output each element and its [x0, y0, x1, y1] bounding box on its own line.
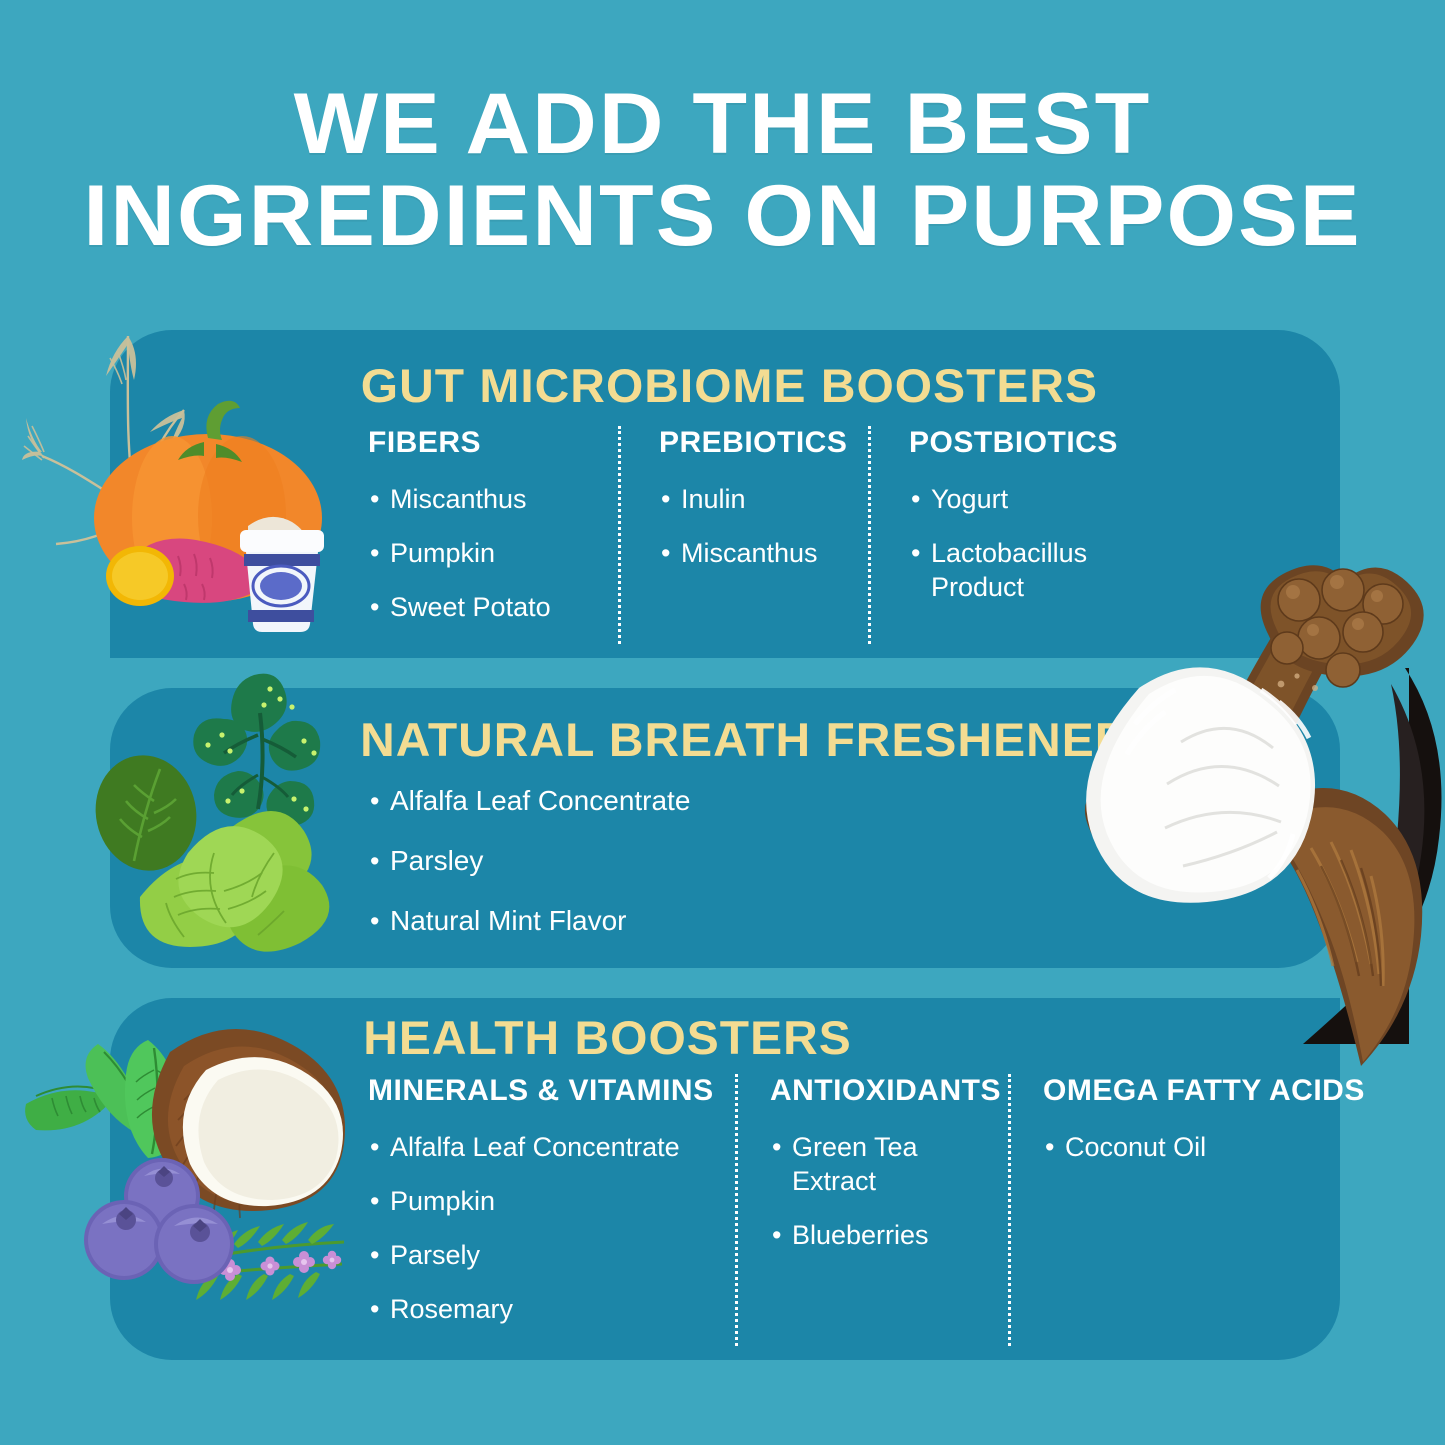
column-fibers: FIBERS Miscanthus Pumpkin Sweet Potato [368, 426, 618, 644]
column-head-fibers: FIBERS [368, 426, 618, 460]
column-head-omega-fatty-acids: OMEGA FATTY ACIDS [1043, 1074, 1328, 1108]
panel-breath-heading: NATURAL BREATH FRESHENERS [360, 712, 1163, 767]
column-head-postbiotics: POSTBIOTICS [909, 426, 1168, 460]
panel-health-heading: HEALTH BOOSTERS [363, 1010, 852, 1065]
list-item: Inulin [659, 482, 868, 516]
title-line-2: INGREDIENTS ON PURPOSE [0, 170, 1445, 262]
list-item: Coconut Oil [1043, 1130, 1328, 1164]
column-head-prebiotics: PREBIOTICS [659, 426, 868, 460]
list-fibers: Miscanthus Pumpkin Sweet Potato [368, 482, 618, 624]
list-item: Parsely [368, 1238, 730, 1272]
list-omega-fatty-acids: Coconut Oil [1043, 1130, 1328, 1164]
list-minerals-vitamins: Alfalfa Leaf Concentrate Pumpkin Parsely… [368, 1130, 735, 1326]
list-breath-fresheners: Alfalfa Leaf Concentrate Parsley Natural… [368, 784, 690, 964]
list-item: Lactobacillus Product [909, 536, 1151, 604]
list-item: Miscanthus [659, 536, 868, 570]
list-item: Alfalfa Leaf Concentrate [368, 784, 690, 818]
health-columns: MINERALS & VITAMINS Alfalfa Leaf Concent… [368, 1074, 1328, 1346]
list-item: Parsley [368, 844, 690, 878]
column-head-antioxidants: ANTIOXIDANTS [770, 1074, 1008, 1108]
gut-columns: FIBERS Miscanthus Pumpkin Sweet Potato P… [368, 426, 1308, 644]
panel-gut-microbiome-boosters: GUT MICROBIOME BOOSTERS FIBERS Miscanthu… [110, 330, 1340, 658]
panel-natural-breath-fresheners: NATURAL BREATH FRESHENERS Alfalfa Leaf C… [110, 688, 1340, 968]
column-prebiotics: PREBIOTICS Inulin Miscanthus [618, 426, 868, 644]
list-item: Blueberries [770, 1218, 1008, 1252]
column-postbiotics: POSTBIOTICS Yogurt Lactobacillus Product [868, 426, 1168, 644]
list-item: Rosemary [368, 1292, 730, 1326]
panel-health-boosters: HEALTH BOOSTERS MINERALS & VITAMINS Alfa… [110, 998, 1340, 1360]
list-item: Green Tea Extract [770, 1130, 952, 1198]
panel-gut-heading: GUT MICROBIOME BOOSTERS [361, 358, 1098, 413]
list-postbiotics: Yogurt Lactobacillus Product [909, 482, 1168, 604]
list-item: Alfalfa Leaf Concentrate [368, 1130, 730, 1164]
list-item: Pumpkin [368, 1184, 730, 1218]
list-antioxidants: Green Tea Extract Blueberries [770, 1130, 1008, 1252]
list-item: Sweet Potato [368, 590, 618, 624]
list-item: Yogurt [909, 482, 1168, 516]
column-head-minerals-vitamins: MINERALS & VITAMINS [368, 1074, 735, 1108]
list-item: Miscanthus [368, 482, 618, 516]
column-minerals-vitamins: MINERALS & VITAMINS Alfalfa Leaf Concent… [368, 1074, 735, 1346]
list-item: Pumpkin [368, 536, 618, 570]
column-antioxidants: ANTIOXIDANTS Green Tea Extract Blueberri… [735, 1074, 1008, 1346]
list-item: Natural Mint Flavor [368, 904, 690, 938]
title-line-1: WE ADD THE BEST [0, 78, 1445, 170]
list-prebiotics: Inulin Miscanthus [659, 482, 868, 570]
page-title: WE ADD THE BEST INGREDIENTS ON PURPOSE [0, 78, 1445, 262]
column-omega-fatty-acids: OMEGA FATTY ACIDS Coconut Oil [1008, 1074, 1328, 1346]
